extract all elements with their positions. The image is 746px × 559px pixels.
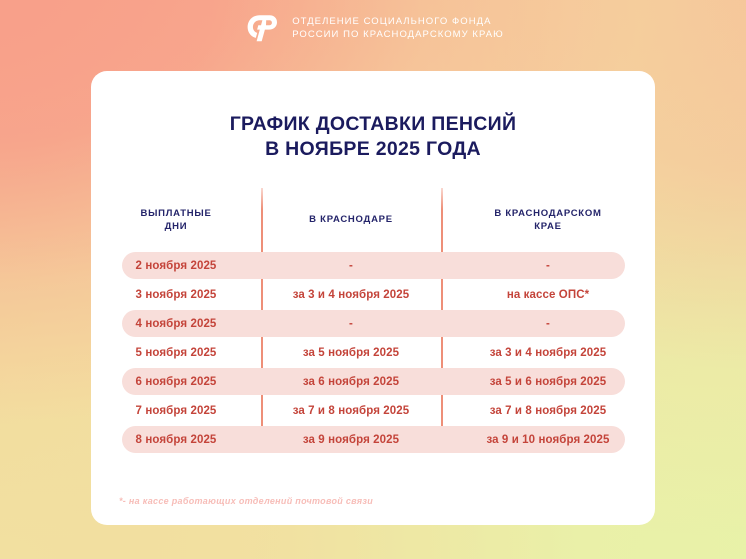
footnote-text: *- на кассе работающих отделений почтово… xyxy=(119,496,373,506)
cell-payment-day: 8 ноября 2025 xyxy=(91,434,261,446)
cell-payment-day: 5 ноября 2025 xyxy=(91,347,261,359)
cell-krasnodar: - xyxy=(261,318,441,330)
brand-title-line-2: РОССИИ ПО КРАСНОДАРСКОМУ КРАЮ xyxy=(292,28,504,41)
table-row: 2 ноября 2025 - - xyxy=(91,251,655,280)
content-card: ГРАФИК ДОСТАВКИ ПЕНСИЙ В НОЯБРЕ 2025 ГОД… xyxy=(91,71,655,525)
cell-kray: на кассе ОПС* xyxy=(441,289,655,301)
page-title-line-1: ГРАФИК ДОСТАВКИ ПЕНСИЙ xyxy=(91,112,655,137)
header-0-line-1: ВЫПЛАТНЫЕ xyxy=(140,208,211,219)
table-header-krasnodar-kray: В КРАСНОДАРСКОМ КРАЕ xyxy=(441,188,655,251)
page-title-line-2: В НОЯБРЕ 2025 ГОДА xyxy=(91,137,655,162)
brand-header: ОТДЕЛЕНИЕ СОЦИАЛЬНОГО ФОНДА РОССИИ ПО КР… xyxy=(0,8,746,48)
cell-payment-day: 7 ноября 2025 xyxy=(91,405,261,417)
cell-krasnodar: за 7 и 8 ноября 2025 xyxy=(261,405,441,417)
pension-delivery-table: ВЫПЛАТНЫЕ ДНИ В КРАСНОДАРЕ В КРАСНОДАРСК… xyxy=(91,188,655,454)
table-body: 2 ноября 2025 - - 3 ноября 2025 за 3 и 4… xyxy=(91,251,655,454)
cell-kray: - xyxy=(441,260,655,272)
header-2-line-2: КРАЕ xyxy=(534,221,562,232)
cell-krasnodar: за 6 ноября 2025 xyxy=(261,376,441,388)
table-row: 5 ноября 2025 за 5 ноября 2025 за 3 и 4 … xyxy=(91,338,655,367)
page-title: ГРАФИК ДОСТАВКИ ПЕНСИЙ В НОЯБРЕ 2025 ГОД… xyxy=(91,112,655,162)
cell-payment-day: 6 ноября 2025 xyxy=(91,376,261,388)
header-1-line-1: В КРАСНОДАРЕ xyxy=(309,214,393,225)
table-header-row: ВЫПЛАТНЫЕ ДНИ В КРАСНОДАРЕ В КРАСНОДАРСК… xyxy=(91,188,655,251)
cell-payment-day: 4 ноября 2025 xyxy=(91,318,261,330)
table-header-payment-days: ВЫПЛАТНЫЕ ДНИ xyxy=(91,188,261,251)
cell-krasnodar: за 3 и 4 ноября 2025 xyxy=(261,289,441,301)
table-row: 7 ноября 2025 за 7 и 8 ноября 2025 за 7 … xyxy=(91,396,655,425)
cell-payment-day: 3 ноября 2025 xyxy=(91,289,261,301)
poster-canvas: ОТДЕЛЕНИЕ СОЦИАЛЬНОГО ФОНДА РОССИИ ПО КР… xyxy=(0,0,746,559)
table-row: 3 ноября 2025 за 3 и 4 ноября 2025 на ка… xyxy=(91,280,655,309)
table-row: 4 ноября 2025 - - xyxy=(91,309,655,338)
header-2-line-1: В КРАСНОДАРСКОМ xyxy=(494,208,601,219)
cell-kray: за 5 и 6 ноября 2025 xyxy=(441,376,655,388)
table-header-krasnodar: В КРАСНОДАРЕ xyxy=(261,188,441,251)
header-0-line-2: ДНИ xyxy=(165,221,188,232)
table-row: 6 ноября 2025 за 6 ноября 2025 за 5 и 6 … xyxy=(91,367,655,396)
cell-kray: за 7 и 8 ноября 2025 xyxy=(441,405,655,417)
cell-krasnodar: за 9 ноября 2025 xyxy=(261,434,441,446)
brand-title-line-1: ОТДЕЛЕНИЕ СОЦИАЛЬНОГО ФОНДА xyxy=(292,15,504,28)
cell-krasnodar: - xyxy=(261,260,441,272)
table-row: 8 ноября 2025 за 9 ноября 2025 за 9 и 10… xyxy=(91,425,655,454)
cell-krasnodar: за 5 ноября 2025 xyxy=(261,347,441,359)
sfr-monogram-icon xyxy=(242,8,282,48)
cell-kray: за 3 и 4 ноября 2025 xyxy=(441,347,655,359)
cell-kray: за 9 и 10 ноября 2025 xyxy=(441,434,655,446)
cell-payment-day: 2 ноября 2025 xyxy=(91,260,261,272)
brand-title: ОТДЕЛЕНИЕ СОЦИАЛЬНОГО ФОНДА РОССИИ ПО КР… xyxy=(292,15,504,41)
cell-kray: - xyxy=(441,318,655,330)
